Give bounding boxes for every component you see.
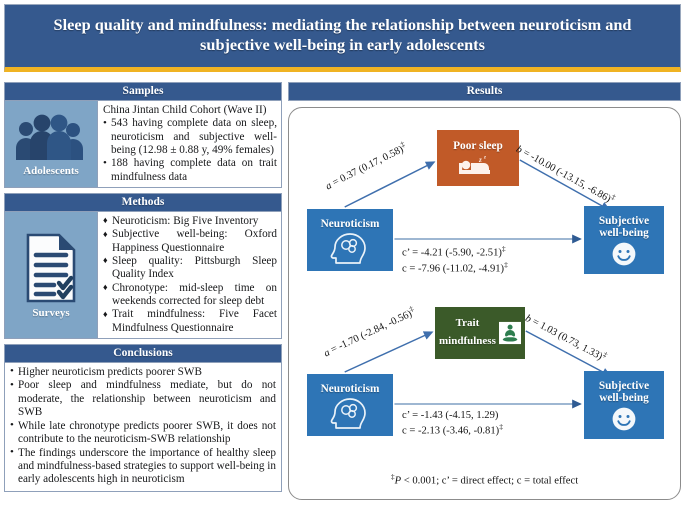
path-c-labels-top: c’ = -4.21 (-5.90, -2.51)‡ c = -7.96 (-1… (402, 244, 508, 275)
conclusions-section: Conclusions Higher neuroticism predicts … (4, 344, 282, 492)
list-item: Subjective well-being: Oxford Happiness … (103, 228, 277, 255)
path-c-labels-bottom: c’ = -1.43 (-4.15, 1.29) c = -2.13 (-3.4… (402, 409, 503, 438)
node-poor-sleep-label: Poor sleep (453, 140, 503, 152)
conclusions-heading: Conclusions (4, 344, 282, 363)
list-item: Neuroticism: Big Five Inventory (103, 215, 277, 228)
poor-sleep-model-diagram: Poor sleep z z Neuroticism (289, 114, 680, 299)
smiley-face-icon (611, 406, 637, 432)
list-item: Chronotype: mid-sleep time on weekends c… (103, 282, 277, 309)
list-item: Trait mindfulness: Five Facet Mindfulnes… (103, 308, 277, 335)
list-item: The findings underscore the importance o… (10, 447, 276, 487)
list-item: 188 having complete data on trait mindfu… (103, 157, 277, 184)
brain-head-icon (330, 397, 370, 430)
node-trait-mindfulness-label-2: mindfulness (439, 336, 496, 348)
samples-lead: China Jintan Child Cohort (Wave II) (103, 104, 277, 117)
path-c-prime-top: c’ = -4.21 (-5.90, -2.51)‡ (402, 244, 508, 260)
methods-text: Neuroticism: Big Five Inventory Subjecti… (98, 212, 281, 338)
samples-text: China Jintan Child Cohort (Wave II) 543 … (98, 101, 281, 187)
trait-mindfulness-model-diagram: Trait mindfulness Neuroticism (289, 304, 680, 474)
bed-sleep-icon: z z (457, 154, 499, 178)
node-poor-sleep: Poor sleep z z (437, 130, 519, 186)
results-footnote: ‡P < 0.001; c’ = direct effect; c = tota… (289, 472, 680, 487)
list-item: While late chronotype predicts poorer SW… (10, 420, 276, 447)
methods-icon-caption: Surveys (32, 307, 69, 319)
graphical-abstract: Sleep quality and mindfulness: mediating… (0, 0, 685, 505)
node-swb-bottom: Subjective well-being (584, 371, 664, 439)
node-swb-label-3: Subjective (599, 380, 649, 392)
node-trait-mindfulness: Trait mindfulness (435, 307, 525, 359)
node-neuroticism-bottom: Neuroticism (307, 374, 393, 436)
left-column: Samples (4, 82, 282, 497)
footnote-text: < 0.001; c’ = direct effect; c = total e… (401, 476, 578, 487)
title-banner: Sleep quality and mindfulness: mediating… (4, 4, 681, 72)
path-c-total-bottom: c = -2.13 (-3.46, -0.81)‡ (402, 422, 503, 438)
page-title: Sleep quality and mindfulness: mediating… (31, 15, 654, 56)
brain-head-icon (330, 232, 370, 265)
path-c-total-top: c = -7.96 (-11.02, -4.91)‡ (402, 260, 508, 276)
node-neuroticism-label: Neuroticism (321, 218, 380, 230)
node-swb-label-1: Subjective (599, 215, 649, 227)
node-trait-mindfulness-labels: Trait mindfulness (439, 318, 496, 348)
adolescents-group-icon (14, 112, 88, 162)
conclusions-body: Higher neuroticism predicts poorer SWB P… (4, 363, 282, 492)
methods-heading: Methods (4, 193, 282, 212)
samples-bullet-list: 543 having complete data on sleep, neuro… (103, 117, 277, 184)
samples-icon-cell: Adolescents (5, 101, 98, 187)
list-item: Sleep quality: Pittsburgh Sleep Quality … (103, 255, 277, 282)
survey-checklist-icon (23, 232, 79, 304)
node-swb-label-2: well-being (599, 227, 649, 239)
node-neuroticism-label-2: Neuroticism (321, 383, 380, 395)
samples-heading: Samples (4, 82, 282, 101)
conclusions-bullet-list: Higher neuroticism predicts poorer SWB P… (10, 366, 276, 487)
results-heading: Results (288, 82, 681, 101)
node-neuroticism-top: Neuroticism (307, 209, 393, 271)
meditation-person-icon (499, 318, 521, 348)
path-c-prime-bottom: c’ = -1.43 (-4.15, 1.29) (402, 409, 503, 422)
methods-body: Surveys Neuroticism: Big Five Inventory … (4, 212, 282, 339)
list-item: Poor sleep and mindfulness mediate, but … (10, 379, 276, 419)
results-card: Poor sleep z z Neuroticism (288, 107, 681, 500)
node-swb-label-4: well-being (599, 392, 649, 404)
methods-bullet-list: Neuroticism: Big Five Inventory Subjecti… (103, 215, 277, 335)
methods-icon-cell: Surveys (5, 212, 98, 338)
right-column: Results (288, 82, 681, 501)
node-trait-mindfulness-label-1: Trait (439, 318, 496, 330)
samples-body: Adolescents China Jintan Child Cohort (W… (4, 101, 282, 188)
list-item: 543 having complete data on sleep, neuro… (103, 117, 277, 157)
smiley-face-icon (611, 241, 637, 267)
samples-icon-caption: Adolescents (23, 165, 79, 177)
methods-section: Methods (4, 193, 282, 339)
svg-text:z: z (483, 156, 486, 161)
svg-text:z: z (478, 156, 482, 164)
node-swb-top: Subjective well-being (584, 206, 664, 274)
samples-section: Samples (4, 82, 282, 188)
list-item: Higher neuroticism predicts poorer SWB (10, 366, 276, 379)
